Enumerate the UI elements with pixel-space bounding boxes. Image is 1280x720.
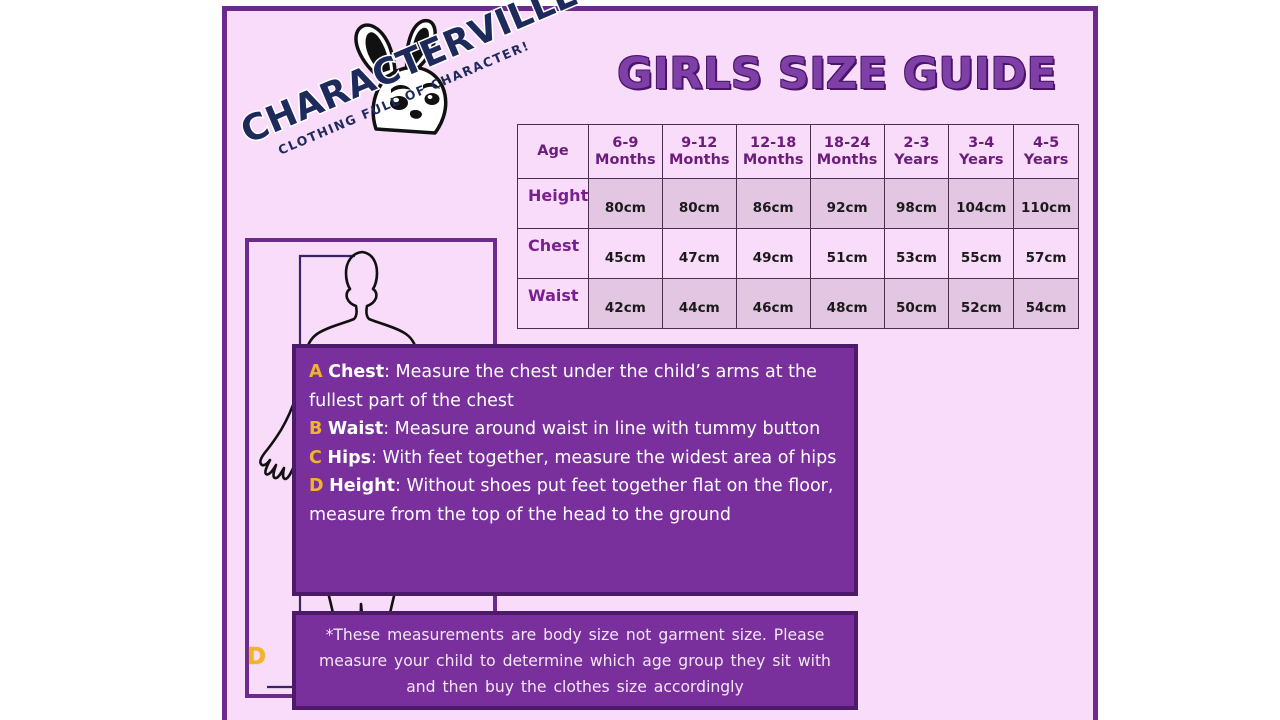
table-cell: 45cm	[588, 229, 662, 279]
table-cell: 52cm	[949, 279, 1014, 329]
table-cell: 46cm	[736, 279, 810, 329]
table-cell: 47cm	[662, 229, 736, 279]
instruction-key: A	[309, 362, 323, 382]
table-row-height: Height 80cm 80cm 86cm 92cm 98cm 104cm 11…	[518, 179, 1079, 229]
table-header-age: Age	[518, 125, 589, 179]
table-cell: 53cm	[884, 229, 949, 279]
instruction-text: : Measure the chest under the child’s ar…	[309, 362, 817, 411]
table-header-6-9-months: 6-9 Months	[588, 125, 662, 179]
table-header-2-3-years: 2-3 Years	[884, 125, 949, 179]
header-line-2: Months	[737, 152, 810, 169]
header-line-1: Age	[518, 143, 588, 160]
table-row-waist: Waist 42cm 44cm 46cm 48cm 50cm 52cm 54cm	[518, 279, 1079, 329]
header-line-2: Months	[589, 152, 662, 169]
table-cell: 54cm	[1014, 279, 1079, 329]
instruction-item-d: D Height: Without shoes put feet togethe…	[309, 472, 841, 529]
table-header-18-24-months: 18-24 Months	[810, 125, 884, 179]
size-table: Age 6-9 Months 9-12 Months 12-18 Month	[517, 124, 1079, 329]
row-label-height: Height	[518, 179, 589, 229]
row-label-chest: Chest	[518, 229, 589, 279]
header-line-1: 4-5	[1014, 135, 1078, 152]
marker-label-d: D	[247, 644, 266, 670]
instruction-key: C	[309, 448, 322, 468]
table-cell: 86cm	[736, 179, 810, 229]
table-cell: 44cm	[662, 279, 736, 329]
header-line-1: 6-9	[589, 135, 662, 152]
instruction-key: B	[309, 419, 322, 439]
footnote-panel: *These measurements are body size not ga…	[292, 611, 858, 710]
measurement-instructions-panel: A Chest: Measure the chest under the chi…	[292, 344, 858, 596]
table-cell: 55cm	[949, 229, 1014, 279]
table-cell: 57cm	[1014, 229, 1079, 279]
table-cell: 48cm	[810, 279, 884, 329]
table-cell: 49cm	[736, 229, 810, 279]
header-line-2: Years	[1014, 152, 1078, 169]
table-header-row: Age 6-9 Months 9-12 Months 12-18 Month	[518, 125, 1079, 179]
table-header-9-12-months: 9-12 Months	[662, 125, 736, 179]
header-line-2: Months	[663, 152, 736, 169]
table-cell: 51cm	[810, 229, 884, 279]
header-line-1: 2-3	[885, 135, 949, 152]
size-guide-page: CHARACTERVILLE CLOTHING FULL OF CHARACTE…	[0, 0, 1280, 720]
footnote-text: *These measurements are body size not ga…	[296, 622, 854, 700]
instruction-term: Hips	[327, 448, 371, 468]
table-cell: 110cm	[1014, 179, 1079, 229]
instruction-term: Chest	[328, 362, 384, 382]
row-label-waist: Waist	[518, 279, 589, 329]
header-line-2: Years	[885, 152, 949, 169]
table-header-12-18-months: 12-18 Months	[736, 125, 810, 179]
header-line-1: 9-12	[663, 135, 736, 152]
instruction-term: Waist	[328, 419, 383, 439]
instruction-item-b: B Waist: Measure around waist in line wi…	[309, 415, 841, 444]
table-row-chest: Chest 45cm 47cm 49cm 51cm 53cm 55cm 57cm	[518, 229, 1079, 279]
table-cell: 92cm	[810, 179, 884, 229]
instruction-text: : Measure around waist in line with tumm…	[383, 419, 820, 439]
header-line-1: 3-4	[949, 135, 1013, 152]
table-cell: 104cm	[949, 179, 1014, 229]
table-header-3-4-years: 3-4 Years	[949, 125, 1014, 179]
table-cell: 80cm	[662, 179, 736, 229]
table-header-4-5-years: 4-5 Years	[1014, 125, 1079, 179]
header-line-1: 12-18	[737, 135, 810, 152]
header-line-2: Months	[811, 152, 884, 169]
instruction-item-c: C Hips: With feet together, measure the …	[309, 444, 841, 473]
header-line-2: Years	[949, 152, 1013, 169]
instruction-text: : With feet together, measure the widest…	[371, 448, 836, 468]
instruction-term: Height	[329, 476, 395, 496]
table-cell: 98cm	[884, 179, 949, 229]
table-cell: 50cm	[884, 279, 949, 329]
instruction-key: D	[309, 476, 324, 496]
header-line-1: 18-24	[811, 135, 884, 152]
table-cell: 42cm	[588, 279, 662, 329]
size-table-container: Age 6-9 Months 9-12 Months 12-18 Month	[517, 124, 1079, 329]
page-title: GIRLS SIZE GUIDE	[587, 49, 1087, 99]
table-cell: 80cm	[588, 179, 662, 229]
instruction-item-a: A Chest: Measure the chest under the chi…	[309, 358, 841, 415]
